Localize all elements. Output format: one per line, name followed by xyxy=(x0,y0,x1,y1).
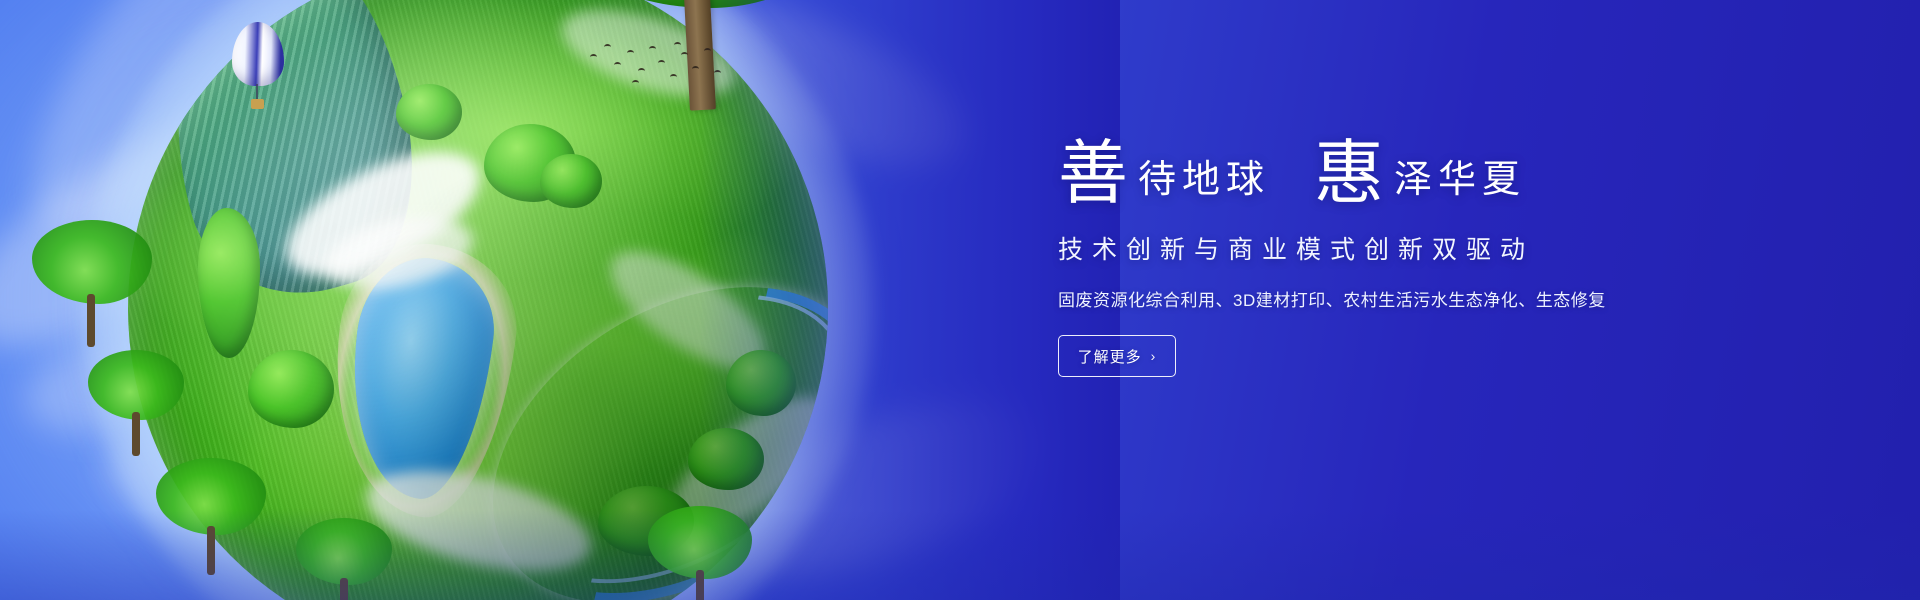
headline-rest-1: 待地球 xyxy=(1128,160,1270,210)
tree-trunk xyxy=(340,578,348,600)
hot-air-balloon-icon xyxy=(232,22,284,114)
inverted-tree xyxy=(32,220,152,340)
headline-lead-char-2: 惠 xyxy=(1314,138,1384,210)
hero-banner: 善 待地球 惠 泽华夏 技术创新与商业模式创新双驱动 固废资源化综合利用、3D建… xyxy=(0,0,1920,600)
tree-trunk xyxy=(207,526,215,574)
page-title: 善 待地球 惠 泽华夏 xyxy=(1058,128,1758,210)
balloon-envelope xyxy=(232,22,284,86)
tree-canopy xyxy=(296,518,392,585)
page-description: 固废资源化综合利用、3D建材打印、农村生活污水生态净化、生态修复 xyxy=(1058,286,1758,311)
headline-lead-char-1: 善 xyxy=(1058,138,1128,210)
learn-more-button[interactable]: 了解更多 › xyxy=(1058,335,1176,377)
inverted-tree xyxy=(156,458,266,568)
balloon-rope xyxy=(256,84,258,100)
learn-more-label: 了解更多 xyxy=(1078,346,1142,367)
inverted-tree xyxy=(296,518,392,600)
tree-trunk xyxy=(132,412,140,456)
balloon-basket xyxy=(251,99,264,109)
inverted-tree xyxy=(88,350,184,450)
tree-canopy xyxy=(648,506,752,579)
hero-copy: 善 待地球 惠 泽华夏 技术创新与商业模式创新双驱动 固废资源化综合利用、3D建… xyxy=(1058,128,1758,377)
headline-rest-2: 泽华夏 xyxy=(1384,160,1526,210)
tree-trunk xyxy=(87,294,95,347)
inverted-tree xyxy=(648,506,752,600)
tree-canopy xyxy=(88,350,184,420)
birds-flock-icon xyxy=(586,40,726,100)
tree-canopy xyxy=(156,458,266,535)
chevron-right-icon: › xyxy=(1151,349,1157,363)
tree-trunk xyxy=(696,570,704,600)
page-subtitle: 技术创新与商业模式创新双驱动 xyxy=(1058,230,1758,266)
tree-canopy xyxy=(32,220,152,304)
